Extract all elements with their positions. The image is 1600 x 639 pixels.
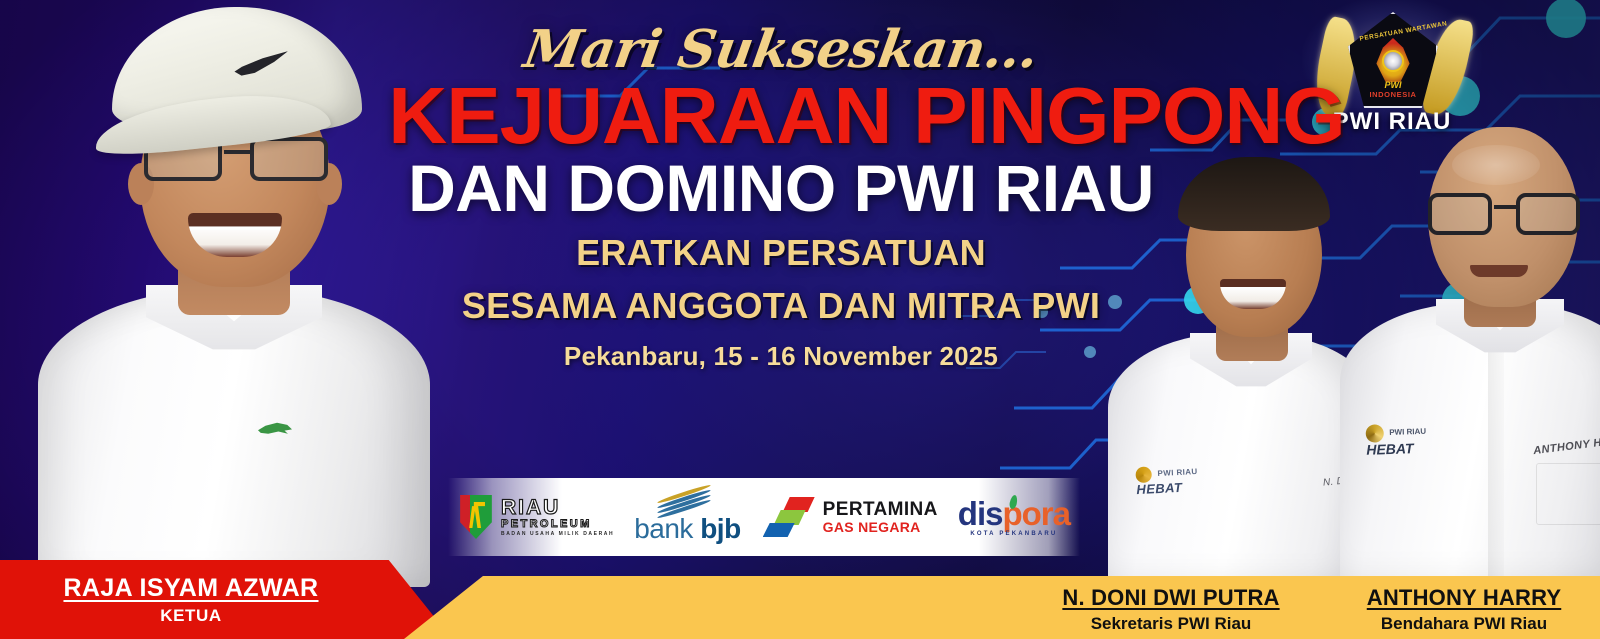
oil-derrick-icon bbox=[467, 502, 485, 528]
name-block-sekretaris: N. DONI DWI PUTRA Sekretaris PWI Riau bbox=[1026, 585, 1316, 634]
pertamina-wordmark: PERTAMINA GAS NEGARA bbox=[823, 500, 938, 535]
dispora-subtitle: KOTA PEKANBARU bbox=[970, 531, 1057, 537]
event-title-primary: KEJUARAAN PINGPONG bbox=[388, 78, 1173, 153]
shirt-badge-pwi-riau-hebat: PWI RIAU HEBAT bbox=[1365, 421, 1470, 459]
tagline-line-1: ERATKAN PERSATUAN bbox=[396, 233, 1166, 274]
lens-right bbox=[1516, 193, 1580, 235]
person-role: KETUA bbox=[160, 606, 222, 626]
emblem-country-text: INDONESIA bbox=[1348, 90, 1438, 99]
shirt-placket bbox=[1488, 333, 1504, 583]
sponsor-line-2: PETROLEUM bbox=[501, 519, 614, 530]
sponsor-line-1: RIAU bbox=[501, 497, 614, 518]
riau-petroleum-wordmark: RIAU PETROLEUM BADAN USAHA MILIK DAERAH bbox=[501, 497, 614, 537]
tagline-line-2: SESAMA ANGGOTA DAN MITRA PWI bbox=[396, 286, 1166, 327]
person-role: Bendahara PWI Riau bbox=[1328, 614, 1600, 634]
sponsor-line-3: BADAN USAHA MILIK DAERAH bbox=[501, 532, 614, 537]
lens-left bbox=[1428, 193, 1492, 235]
name-bar-ketua: RAJA ISYAM AZWAR KETUA bbox=[0, 560, 452, 639]
name-block-bendahara: ANTHONY HARRY Bendahara PWI Riau bbox=[1328, 585, 1600, 634]
lens-right bbox=[250, 137, 328, 181]
bjb-swoosh-icon bbox=[656, 491, 718, 513]
sponsor-bar: RIAU PETROLEUM BADAN USAHA MILIK DAERAH … bbox=[448, 478, 1080, 556]
shirt-badge-bottom: HEBAT bbox=[1136, 480, 1183, 497]
name-bar-pengurus: N. DONI DWI PUTRA Sekretaris PWI Riau AN… bbox=[404, 576, 1600, 639]
head-highlight bbox=[1452, 145, 1540, 185]
hair bbox=[1178, 157, 1330, 231]
bank-bjb-wordmark: bank bjb bbox=[634, 515, 741, 543]
bjb-word-bold: bjb bbox=[700, 513, 741, 544]
person-photo-ketua bbox=[20, 47, 440, 587]
person-name: N. DONI DWI PUTRA bbox=[1026, 585, 1316, 611]
person-role: Sekretaris PWI Riau bbox=[1026, 614, 1316, 634]
date-and-place: Pekanbaru, 15 - 16 November 2025 bbox=[396, 341, 1166, 372]
pwi-emblem-icon bbox=[1365, 424, 1384, 443]
pertamina-arrow-icon bbox=[761, 497, 815, 537]
shirt-badge-top: PWI RIAU bbox=[1389, 427, 1426, 437]
glasses-bridge bbox=[1494, 205, 1516, 209]
emblem-arc-text: PERSATUAN WARTAWAN bbox=[1359, 20, 1448, 42]
bjb-word-light: bank bbox=[634, 513, 700, 544]
person-photo-bendahara: PWI RIAU HEBAT ANTHONY HARRY bbox=[1340, 73, 1600, 583]
mouth bbox=[1470, 265, 1528, 277]
event-title-secondary: DAN DOMINO PWI RIAU bbox=[396, 155, 1166, 221]
headline-block: Mari Sukseskan... KEJUARAAN PINGPONG DAN… bbox=[396, 24, 1166, 372]
dispora-word-dark: dis bbox=[958, 495, 1003, 532]
shirt-badge-top: PWI RIAU bbox=[1157, 467, 1198, 478]
shirt-badge-pwi-riau-hebat: PWI RIAU HEBAT bbox=[1135, 463, 1220, 497]
eyeglasses-icon bbox=[1426, 193, 1582, 237]
flame-core-icon bbox=[1382, 50, 1404, 72]
emblem-pwi-text: PWI bbox=[1348, 80, 1438, 90]
sponsor-logo-bank-bjb: bank bjb bbox=[634, 491, 741, 543]
riau-shield-icon bbox=[458, 495, 494, 539]
shirt-badge-bottom: HEBAT bbox=[1366, 440, 1414, 458]
sponsor-logo-dispora: dispora KOTA PEKANBARU bbox=[958, 497, 1070, 537]
sponsor-logo-pertamina-gas-negara: PERTAMINA GAS NEGARA bbox=[761, 497, 938, 537]
sponsor-line-2: GAS NEGARA bbox=[823, 520, 938, 535]
sponsor-line-1: PERTAMINA bbox=[823, 500, 938, 520]
glasses-bridge bbox=[224, 150, 250, 154]
person-name: ANTHONY HARRY bbox=[1328, 585, 1600, 611]
shirt-pocket bbox=[1536, 463, 1600, 525]
event-banner: PWI RIAU HEBAT N. DON PWI RIAU HEBAT ANT… bbox=[0, 0, 1600, 639]
person-name: RAJA ISYAM AZWAR bbox=[63, 574, 318, 603]
script-invitation-line: Mari Sukseskan... bbox=[392, 24, 1170, 76]
sponsor-logo-riau-petroleum: RIAU PETROLEUM BADAN USAHA MILIK DAERAH bbox=[458, 495, 614, 539]
